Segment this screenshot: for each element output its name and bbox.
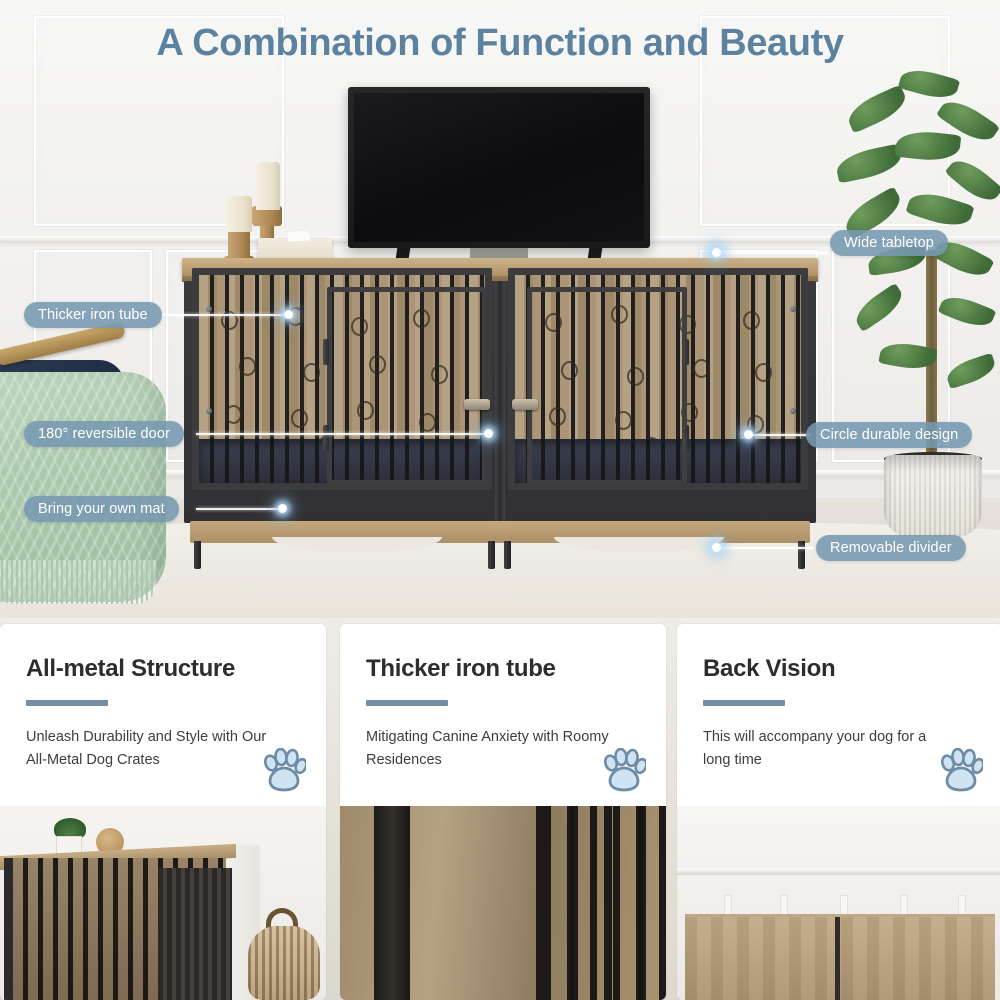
card-photo-back-view [677,806,1000,1000]
skirt-arch [272,537,442,553]
callout-hotspot-dot [278,504,287,513]
card-accent-rule [26,700,108,706]
callout-leader-line [196,433,486,435]
frame-screw [790,306,796,312]
callout-reversible-door[interactable]: 180° reversible door [24,421,184,447]
planter-pot [884,455,982,537]
frame-screw [206,306,212,312]
door-hinge [683,339,689,365]
callout-leader-line [748,434,810,436]
crate-leg [798,541,805,569]
crate-compartment-left [192,268,492,490]
crate-leg [504,541,511,569]
hero-section: A Combination of Function and Beauty Thi… [0,0,1000,618]
callout-hotspot-dot [484,429,493,438]
dog-crate-furniture [182,258,818,568]
candle-holder-stem [228,230,250,258]
infographic-page: A Combination of Function and Beauty Thi… [0,0,1000,1000]
skirt-arch [554,537,724,553]
callout-wide-tabletop[interactable]: Wide tabletop [830,230,948,256]
door-hinge [683,425,689,451]
callout-hotspot-dot [284,310,293,319]
callout-leader-line [196,508,280,510]
card-accent-rule [366,700,448,706]
callout-hotspot-dot [712,543,721,552]
card-title: Thicker iron tube [366,656,640,682]
card-title: Back Vision [703,656,977,682]
feature-card-thicker-iron-tube[interactable]: Thicker iron tube Mitigating Canine Anxi… [340,624,666,1000]
feature-card-back-vision[interactable]: Back Vision This will accompany your dog… [677,624,1000,1000]
callout-hotspot-dot [744,430,753,439]
callout-leader-line [152,314,286,316]
card-description: Mitigating Canine Anxiety with Roomy Res… [366,726,618,771]
crate-leg [194,541,201,569]
removable-divider[interactable] [495,281,505,523]
crate-leg [488,541,495,569]
card-photo-angled-view [0,806,326,1000]
card-header: Thicker iron tube Mitigating Canine Anxi… [340,624,666,806]
blanket-fringe [0,560,156,604]
door-hinge [323,339,329,365]
crate-compartment-right [508,268,808,490]
pillar-candle [256,162,280,210]
tissue [288,230,311,242]
callout-thicker-iron-tube[interactable]: Thicker iron tube [24,302,162,328]
pillar-candle [226,196,252,232]
paw-print-icon [939,748,983,794]
crate-bars-lower [199,439,485,483]
card-header: All-metal Structure Unleash Durability a… [0,624,326,806]
page-title: A Combination of Function and Beauty [0,22,1000,65]
feature-cards-section: Thicker iron tube Mitigating Canine Anxi… [0,618,1000,1000]
card-header: Back Vision This will accompany your dog… [677,624,1000,806]
frame-screw [206,408,212,414]
card-accent-rule [703,700,785,706]
crate-bars-lower [515,439,801,483]
callout-hotspot-dot [712,248,721,257]
door-latch-right[interactable] [512,399,538,410]
card-title: All-metal Structure [26,656,300,682]
frame-screw [790,408,796,414]
paw-print-icon [602,748,646,794]
door-hinge [323,425,329,451]
callout-circle-durable-design[interactable]: Circle durable design [806,422,972,448]
card-photo-wood-and-bars [340,806,666,1000]
feature-card-all-metal-structure[interactable]: All-metal Structure Unleash Durability a… [0,624,326,1000]
callout-leader-line [716,547,814,549]
paw-print-icon [262,748,306,794]
card-description: This will accompany your dog for a long … [703,726,955,771]
callout-leader-line [716,252,828,254]
card-description: Unleash Durability and Style with Our Al… [26,726,278,771]
tv-screen [348,87,650,248]
callout-removable-divider[interactable]: Removable divider [816,535,966,561]
callout-bring-your-own-mat[interactable]: Bring your own mat [24,496,179,522]
door-latch-left[interactable] [464,399,490,410]
tv-display [354,93,644,242]
